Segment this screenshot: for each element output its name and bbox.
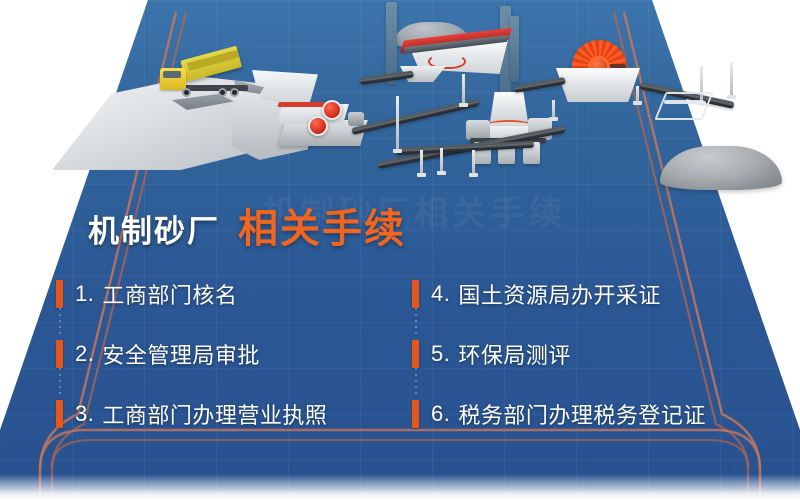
crusher-flywheel bbox=[308, 116, 328, 136]
washer-tank bbox=[556, 68, 640, 102]
conveyor-leg bbox=[472, 150, 475, 174]
step-number: 2. bbox=[75, 341, 94, 367]
list-item[interactable]: 3. 工商部门办理营业执照 bbox=[56, 384, 396, 444]
conveyor-leg bbox=[552, 100, 555, 118]
bullet-bar-icon bbox=[56, 280, 63, 308]
dump-truck-icon bbox=[160, 58, 256, 98]
procedure-column-left: 1. 工商部门核名 2. 安全管理局审批 3. 工商部门办理营业执照 bbox=[56, 264, 396, 444]
conveyor-leg bbox=[730, 62, 733, 96]
step-number: 5. bbox=[431, 341, 450, 367]
step-label: 税务部门办理税务登记证 bbox=[458, 398, 706, 430]
title-plain: 机制砂厂 bbox=[88, 206, 220, 251]
list-item[interactable]: 4. 国土资源局办开采证 bbox=[412, 264, 752, 324]
procedure-column-right: 4. 国土资源局办开采证 5. 环保局测评 6. 税务部门办理税务登记证 bbox=[412, 264, 752, 444]
bullet-bar-icon bbox=[56, 340, 63, 368]
step-label: 安全管理局审批 bbox=[102, 338, 260, 370]
vsi-feed-cone bbox=[490, 92, 528, 122]
truck-wheel bbox=[182, 88, 191, 97]
truck-wheel bbox=[230, 88, 239, 97]
vsi-motor-left bbox=[466, 120, 490, 140]
procedure-list: 1. 工商部门核名 2. 安全管理局审批 3. 工商部门办理营业执照 4. bbox=[0, 264, 800, 454]
list-item[interactable]: 2. 安全管理局审批 bbox=[56, 324, 396, 384]
crusher-flywheel bbox=[322, 100, 342, 120]
title-emphasis: 相关手续 bbox=[238, 196, 406, 254]
list-item[interactable]: 6. 税务部门办理税务登记证 bbox=[412, 384, 752, 444]
access-stair bbox=[654, 92, 713, 120]
gravel-pile-icon bbox=[660, 146, 782, 190]
step-number: 6. bbox=[431, 401, 450, 427]
stair-rail bbox=[664, 100, 704, 104]
poster-canvas: 机制砂厂相关手续 机制砂厂 相关手续 1. 工商部门核名 2. 安全管理局审批 … bbox=[0, 0, 800, 500]
step-label: 国土资源局办开采证 bbox=[458, 278, 661, 310]
conveyor-leg bbox=[440, 148, 443, 172]
conveyor-leg bbox=[636, 86, 639, 102]
support-tower bbox=[386, 2, 397, 84]
crusher-motor bbox=[348, 112, 364, 126]
step-label: 工商部门办理营业执照 bbox=[102, 398, 327, 430]
list-item[interactable]: 1. 工商部门核名 bbox=[56, 264, 396, 324]
step-number: 3. bbox=[75, 401, 94, 427]
truck-wheel bbox=[218, 88, 227, 97]
page-title: 机制砂厂 相关手续 bbox=[88, 196, 406, 254]
conveyor-leg bbox=[462, 74, 465, 104]
step-label: 环保局测评 bbox=[458, 338, 571, 370]
list-item[interactable]: 5. 环保局测评 bbox=[412, 324, 752, 384]
bullet-bar-icon bbox=[412, 280, 419, 308]
conveyor-leg bbox=[420, 150, 423, 174]
bullet-bar-icon bbox=[412, 400, 419, 428]
step-label: 工商部门核名 bbox=[102, 278, 237, 310]
bullet-bar-icon bbox=[412, 340, 419, 368]
truck-window bbox=[163, 71, 181, 78]
step-number: 1. bbox=[75, 281, 94, 307]
step-number: 4. bbox=[431, 281, 450, 307]
bottom-fade bbox=[0, 474, 800, 500]
bullet-bar-icon bbox=[56, 400, 63, 428]
conveyor-leg bbox=[396, 96, 399, 150]
vibrating-screen-icon bbox=[398, 28, 516, 90]
